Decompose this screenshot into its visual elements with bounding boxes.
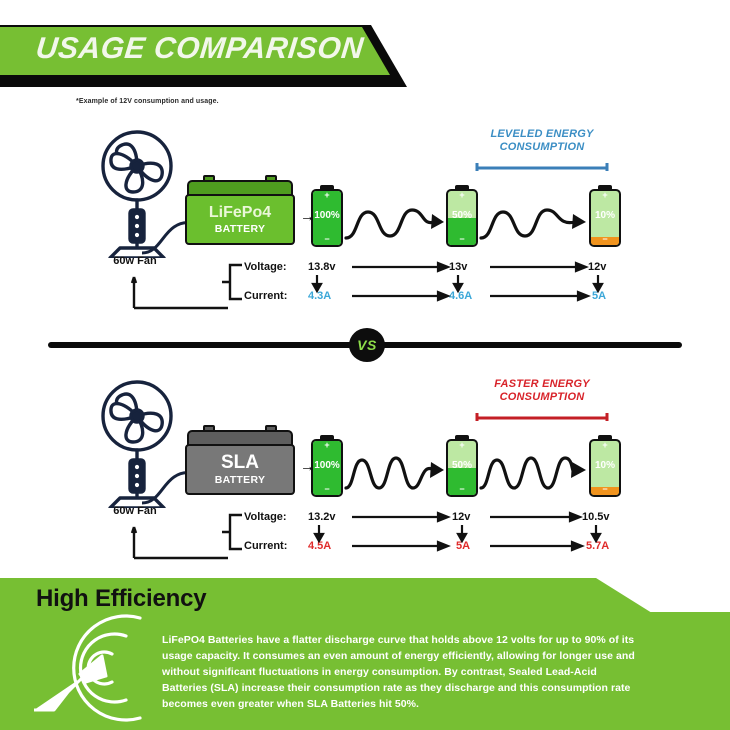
callout-range-bar [474,162,610,171]
battery-plus-sign: + [311,191,343,200]
callout-line-1: FASTER ENERGY [452,378,632,391]
energy-wave-2 [479,192,591,246]
battery-minus-sign: − [589,485,621,494]
battery-state-10: + 10% − [589,435,621,497]
comparison-row-lifepo4: 60w Fan LiFePo4 BATTERY → + 100% − [0,120,730,350]
fan-connector-bracket [88,272,230,312]
battery-lifepo4: LiFePo4 BATTERY [185,180,295,245]
callout-range-bar [474,412,610,421]
fan-label: 60w Fan [85,505,185,517]
battery-minus-sign: − [446,485,478,494]
callout-line-2: CONSUMPTION [452,391,632,404]
metrics-table-sla: Voltage: Current: 13.2v 12v 10.5v 4.5A 5… [222,510,642,565]
battery-minus-sign: − [589,235,621,244]
battery-percent: 50% [446,211,478,221]
vs-badge: VS [349,328,385,362]
metrics-table-lifepo4: Voltage: Current: 13.8v 13v 12v 4.3A 4.6… [222,260,642,315]
battery-state-50: + 50% − [446,435,478,497]
battery-state-50: + 50% − [446,185,478,247]
battery-state-100: + 100% − [311,185,343,247]
battery-minus-sign: − [311,235,343,244]
battery-plus-sign: + [311,441,343,450]
battery-sla: SLA BATTERY [185,430,295,495]
battery-plus-sign: + [446,191,478,200]
footer-description: LiFePO4 Batteries have a flatter dischar… [162,632,642,712]
infographic-page: USAGE COMPARISON *Example of 12V consump… [0,0,730,730]
battery-body: LiFePo4 BATTERY [185,194,295,245]
battery-minus-sign: − [446,235,478,244]
footnote-example: *Example of 12V consumption and usage. [76,98,219,105]
battery-plus-sign: + [589,441,621,450]
callout-leveled-energy: LEVELED ENERGY CONSUMPTION [452,128,632,154]
energy-wave-2 [479,442,591,496]
battery-plus-sign: + [589,191,621,200]
battery-percent: 10% [589,211,621,221]
fan-label: 60w Fan [85,255,185,267]
callout-line-1: LEVELED ENERGY [452,128,632,141]
callout-line-2: CONSUMPTION [452,141,632,154]
callout-faster-energy: FASTER ENERGY CONSUMPTION [452,378,632,404]
battery-name: SLA [221,453,259,472]
table-arrows [222,260,642,315]
battery-name: LiFePo4 [209,205,271,221]
battery-percent: 100% [311,211,343,221]
comparison-row-sla: 60w Fan SLA BATTERY → + 100% − [0,370,730,600]
vs-divider: VS [0,328,730,362]
battery-body: SLA BATTERY [185,444,295,495]
fan-connector-bracket [88,522,230,562]
battery-subtitle: BATTERY [215,475,266,486]
vs-label: VS [357,337,377,353]
battery-percent: 100% [311,461,343,471]
battery-percent: 10% [589,461,621,471]
battery-state-10: + 10% − [589,185,621,247]
plug-icon [34,612,152,724]
table-arrows [222,510,642,565]
header-banner: USAGE COMPARISON [0,25,730,87]
energy-wave-1 [344,192,448,246]
battery-state-100: + 100% − [311,435,343,497]
battery-minus-sign: − [311,485,343,494]
page-title: USAGE COMPARISON [34,32,365,66]
footer-title: High Efficiency [36,585,206,613]
battery-percent: 50% [446,461,478,471]
battery-subtitle: BATTERY [215,224,266,235]
energy-wave-1 [344,442,448,496]
battery-plus-sign: + [446,441,478,450]
